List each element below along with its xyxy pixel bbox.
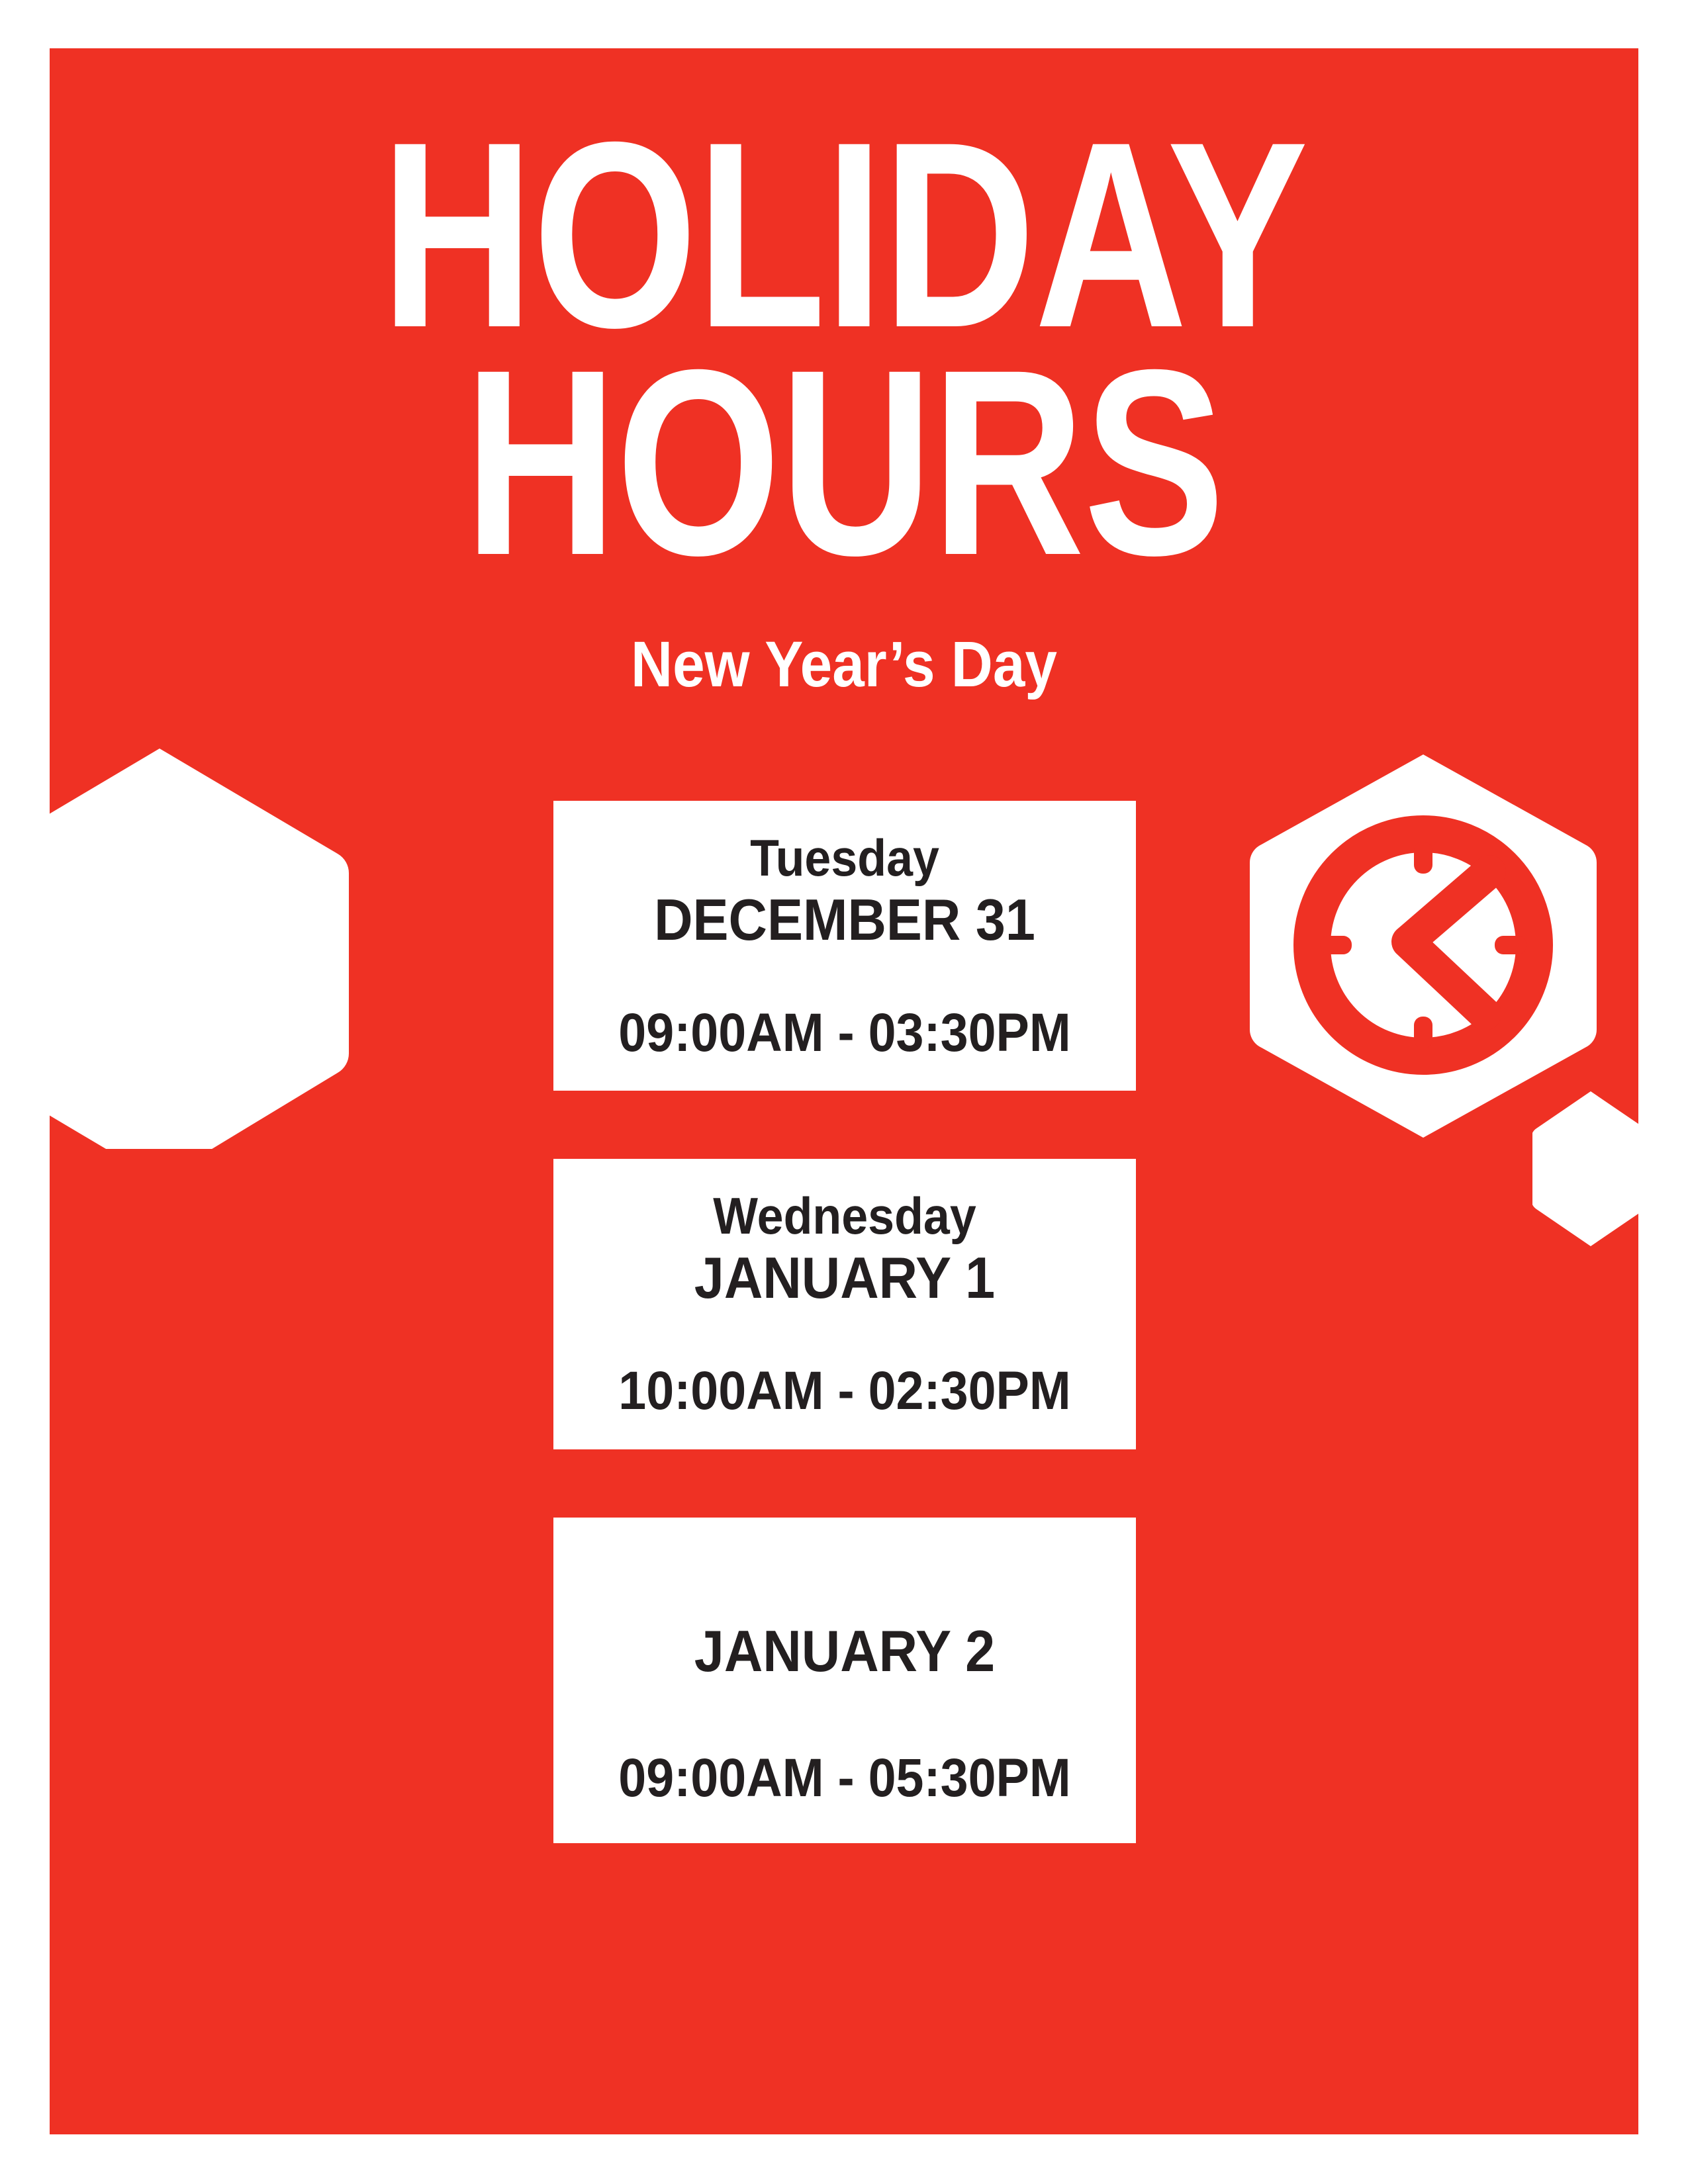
schedule-card: Tuesday DECEMBER 31 09:00AM - 03:30PM bbox=[553, 801, 1136, 1091]
holiday-hours-poster: HOLIDAY HOURS New Year’s Day bbox=[0, 0, 1688, 2184]
clock-icon bbox=[1244, 749, 1602, 1143]
hexagon-shape-small bbox=[1532, 1089, 1638, 1249]
card-date: JANUARY 2 bbox=[595, 1617, 1094, 1686]
card-time: 09:00AM - 03:30PM bbox=[595, 1003, 1094, 1063]
clock-face bbox=[1312, 834, 1534, 1056]
card-time: 10:00AM - 02:30PM bbox=[595, 1361, 1094, 1421]
schedule-card: Wednesday JANUARY 1 10:00AM - 02:30PM bbox=[553, 1159, 1136, 1449]
hexagon-shape-bottom-left bbox=[50, 745, 374, 1149]
card-date: DECEMBER 31 bbox=[595, 886, 1094, 954]
title-line-hours: HOURS bbox=[209, 349, 1479, 576]
schedule-card: JANUARY 2 09:00AM - 05:30PM bbox=[553, 1518, 1136, 1843]
card-date: JANUARY 1 bbox=[595, 1244, 1094, 1312]
card-weekday: Wednesday bbox=[595, 1188, 1094, 1244]
schedule-list: Tuesday DECEMBER 31 09:00AM - 03:30PM We… bbox=[553, 801, 1136, 1843]
card-weekday: Tuesday bbox=[595, 830, 1094, 886]
page-title: HOLIDAY HOURS bbox=[50, 121, 1638, 576]
card-time: 09:00AM - 05:30PM bbox=[595, 1749, 1094, 1808]
subtitle: New Year’s Day bbox=[129, 627, 1559, 702]
red-background-panel: HOLIDAY HOURS New Year’s Day bbox=[50, 48, 1638, 2134]
